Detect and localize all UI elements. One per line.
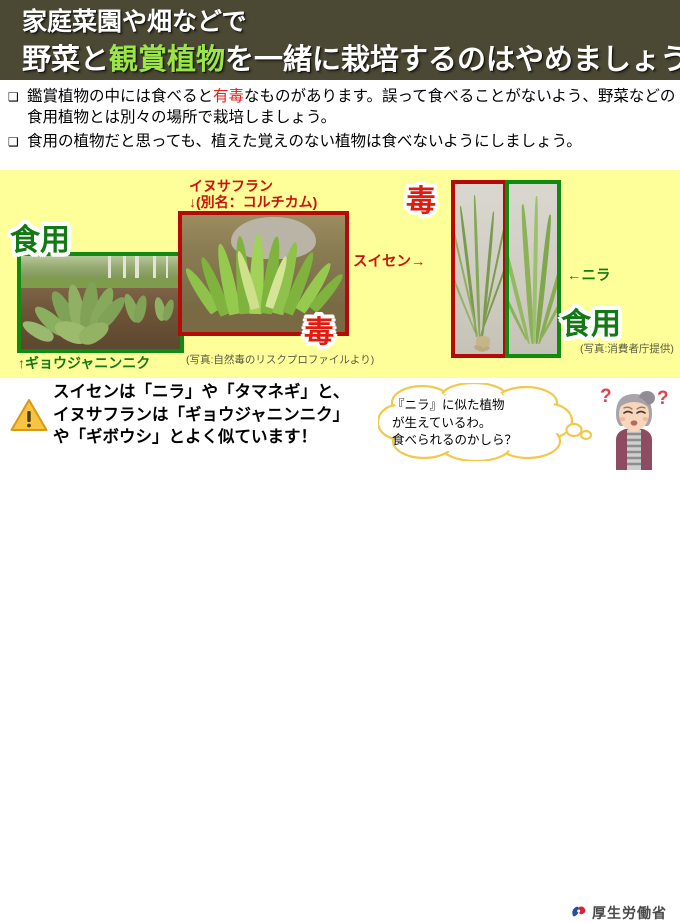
annotation-inusafuran: イヌサフラン ↓(別名：コルチカム) — [189, 178, 317, 210]
bullet-section: ❑ 鑑賞植物の中には食べると有毒なものがあります。誤って食べることがないよう、野… — [0, 82, 680, 170]
photo-gyoujaninniku — [17, 252, 184, 353]
bullet-item-2-text: 食用の植物だと思っても、植えた覚えのない植物は食べないようにしましょう。 — [27, 131, 680, 152]
ministry-logo-icon — [570, 903, 587, 920]
poster-header: 家庭菜園や畑などで 野菜と観賞植物を一緒に栽培するのはやめましょう！ — [0, 0, 680, 80]
elderly-woman-illustration — [603, 388, 665, 470]
annotation-gyoujaninniku: ↑ギョウジャニンニク — [18, 353, 150, 373]
bubble-line-2: が生えているわ。 — [392, 415, 588, 433]
bullet-item-1: ❑ 鑑賞植物の中には食べると有毒なものがあります。誤って食べることがないよう、野… — [8, 86, 676, 128]
warning-line-1: スイセンは「ニラ」や「タマネギ」と、 — [53, 381, 349, 404]
caption-middle-photo: (写真:自然毒のリスクプロファイルより) — [186, 352, 374, 367]
thought-bubble-text: 『ニラ』に似た植物 が生えているわ。 食べられるのかしら？ — [392, 397, 588, 450]
warning-line-3: や「ギボウシ」とよく似ています！ — [53, 426, 349, 449]
warning-line-2: イヌサフランは「ギョウジャニンニク」 — [53, 404, 349, 427]
annotation-inusafuran-line1: イヌサフラン — [189, 178, 317, 194]
bullet-marker-icon: ❑ — [8, 87, 19, 107]
header-title-line2: 野菜と観賞植物を一緒に栽培するのはやめましょう！ — [22, 36, 680, 78]
bullet-marker-icon: ❑ — [8, 132, 19, 152]
bullet-item-1-text: 鑑賞植物の中には食べると有毒なものがあります。誤って食べることがないよう、野菜な… — [27, 86, 676, 128]
poster-root: 家庭菜園や畑などで 野菜と観賞植物を一緒に栽培するのはやめましょう！ ❑ 鑑賞植… — [0, 0, 680, 473]
photo-gyoujaninniku-image — [21, 256, 180, 349]
annotation-inusafuran-line2: ↓(別名：コルチカム) — [189, 194, 317, 210]
label-poison-middle: 毒 — [304, 307, 334, 351]
header-title-line1: 家庭菜園や畑などで — [22, 2, 247, 38]
warning-triangle-icon — [10, 398, 48, 432]
annotation-suisen: スイセン→ — [353, 250, 426, 271]
ministry-name: 厚生労働省 — [592, 903, 667, 923]
photo-suisen — [451, 180, 507, 358]
bullet-item-2: ❑ 食用の植物だと思っても、植えた覚えのない植物は食べないようにしましょう。 — [8, 131, 680, 152]
bullet1-part-a: 鑑賞植物の中には食べると — [27, 88, 213, 105]
warning-message: スイセンは「ニラ」や「タマネギ」と、 イヌサフランは「ギョウジャニンニク」 や「… — [53, 381, 349, 449]
photo-suisen-image — [455, 184, 503, 354]
header-line2-highlight: 観賞植物 — [109, 44, 225, 76]
annotation-nira: ←ニラ — [567, 264, 611, 285]
photo-nira-image — [509, 184, 557, 354]
header-line2-post: を一緒に栽培するのはやめましょう！ — [225, 44, 680, 76]
label-poison-right: 毒 — [406, 176, 436, 220]
bubble-line-3: 食べられるのかしら？ — [392, 432, 588, 450]
bullet1-poison-word: 有毒 — [213, 88, 244, 105]
label-edible-left: 食用 — [10, 215, 70, 259]
photo-nira — [505, 180, 561, 358]
label-edible-right: 食用 — [561, 299, 621, 343]
thought-bubble: 『ニラ』に似た植物 が生えているわ。 食べられるのかしら？ — [378, 383, 596, 461]
header-line2-pre: 野菜と — [22, 44, 109, 76]
caption-right-photo: (写真:消費者庁提供) — [580, 341, 674, 356]
bubble-line-1: 『ニラ』に似た植物 — [392, 397, 588, 415]
